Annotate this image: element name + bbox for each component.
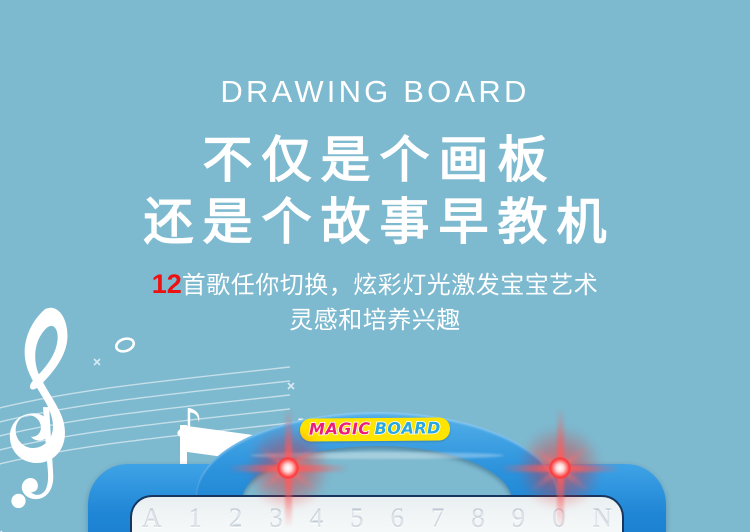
- logo-word-board: BOARD: [375, 418, 441, 438]
- embossed-char: 2: [229, 503, 243, 532]
- board-writing-surface: A1234567890N: [130, 495, 624, 532]
- embossed-characters: A1234567890N: [132, 503, 622, 532]
- embossed-char: 7: [431, 503, 445, 532]
- eyebrow-title: DRAWING BOARD: [0, 76, 750, 107]
- embossed-char: 1: [188, 503, 202, 532]
- handle-highlight: [250, 452, 504, 459]
- subcopy-line-2: 灵感和培养兴趣: [289, 307, 461, 334]
- logo-word-magic: MAGIC: [309, 419, 371, 439]
- headline-line-1: 不仅是个画板: [0, 133, 750, 187]
- embossed-char: 0: [552, 503, 566, 532]
- embossed-char: N: [592, 503, 612, 532]
- subcopy: 12首歌任你切换，炫彩灯光激发宝宝艺术 灵感和培养兴趣: [0, 265, 750, 339]
- headline-line-2: 还是个故事早教机: [0, 195, 750, 249]
- embossed-char: 8: [471, 503, 485, 532]
- embossed-char: A: [142, 503, 162, 532]
- embossed-char: 3: [269, 503, 283, 532]
- subcopy-line-1: 首歌任你切换，炫彩灯光激发宝宝艺术: [182, 272, 599, 299]
- whole-note-icon: [115, 337, 136, 354]
- drawing-board-product: MAGICBOARD A1234567890N: [88, 412, 666, 532]
- magic-board-logo: MAGICBOARD: [300, 417, 450, 441]
- headline-block: DRAWING BOARD 不仅是个画板 还是个故事早教机 12首歌任你切换，炫…: [0, 0, 750, 339]
- embossed-char: 6: [390, 503, 404, 532]
- song-count: 12: [152, 269, 182, 299]
- promo-banner: DRAWING BOARD 不仅是个画板 还是个故事早教机 12首歌任你切换，炫…: [0, 0, 750, 532]
- embossed-char: 4: [310, 503, 324, 532]
- embossed-char: 5: [350, 503, 364, 532]
- embossed-char: 9: [512, 503, 526, 532]
